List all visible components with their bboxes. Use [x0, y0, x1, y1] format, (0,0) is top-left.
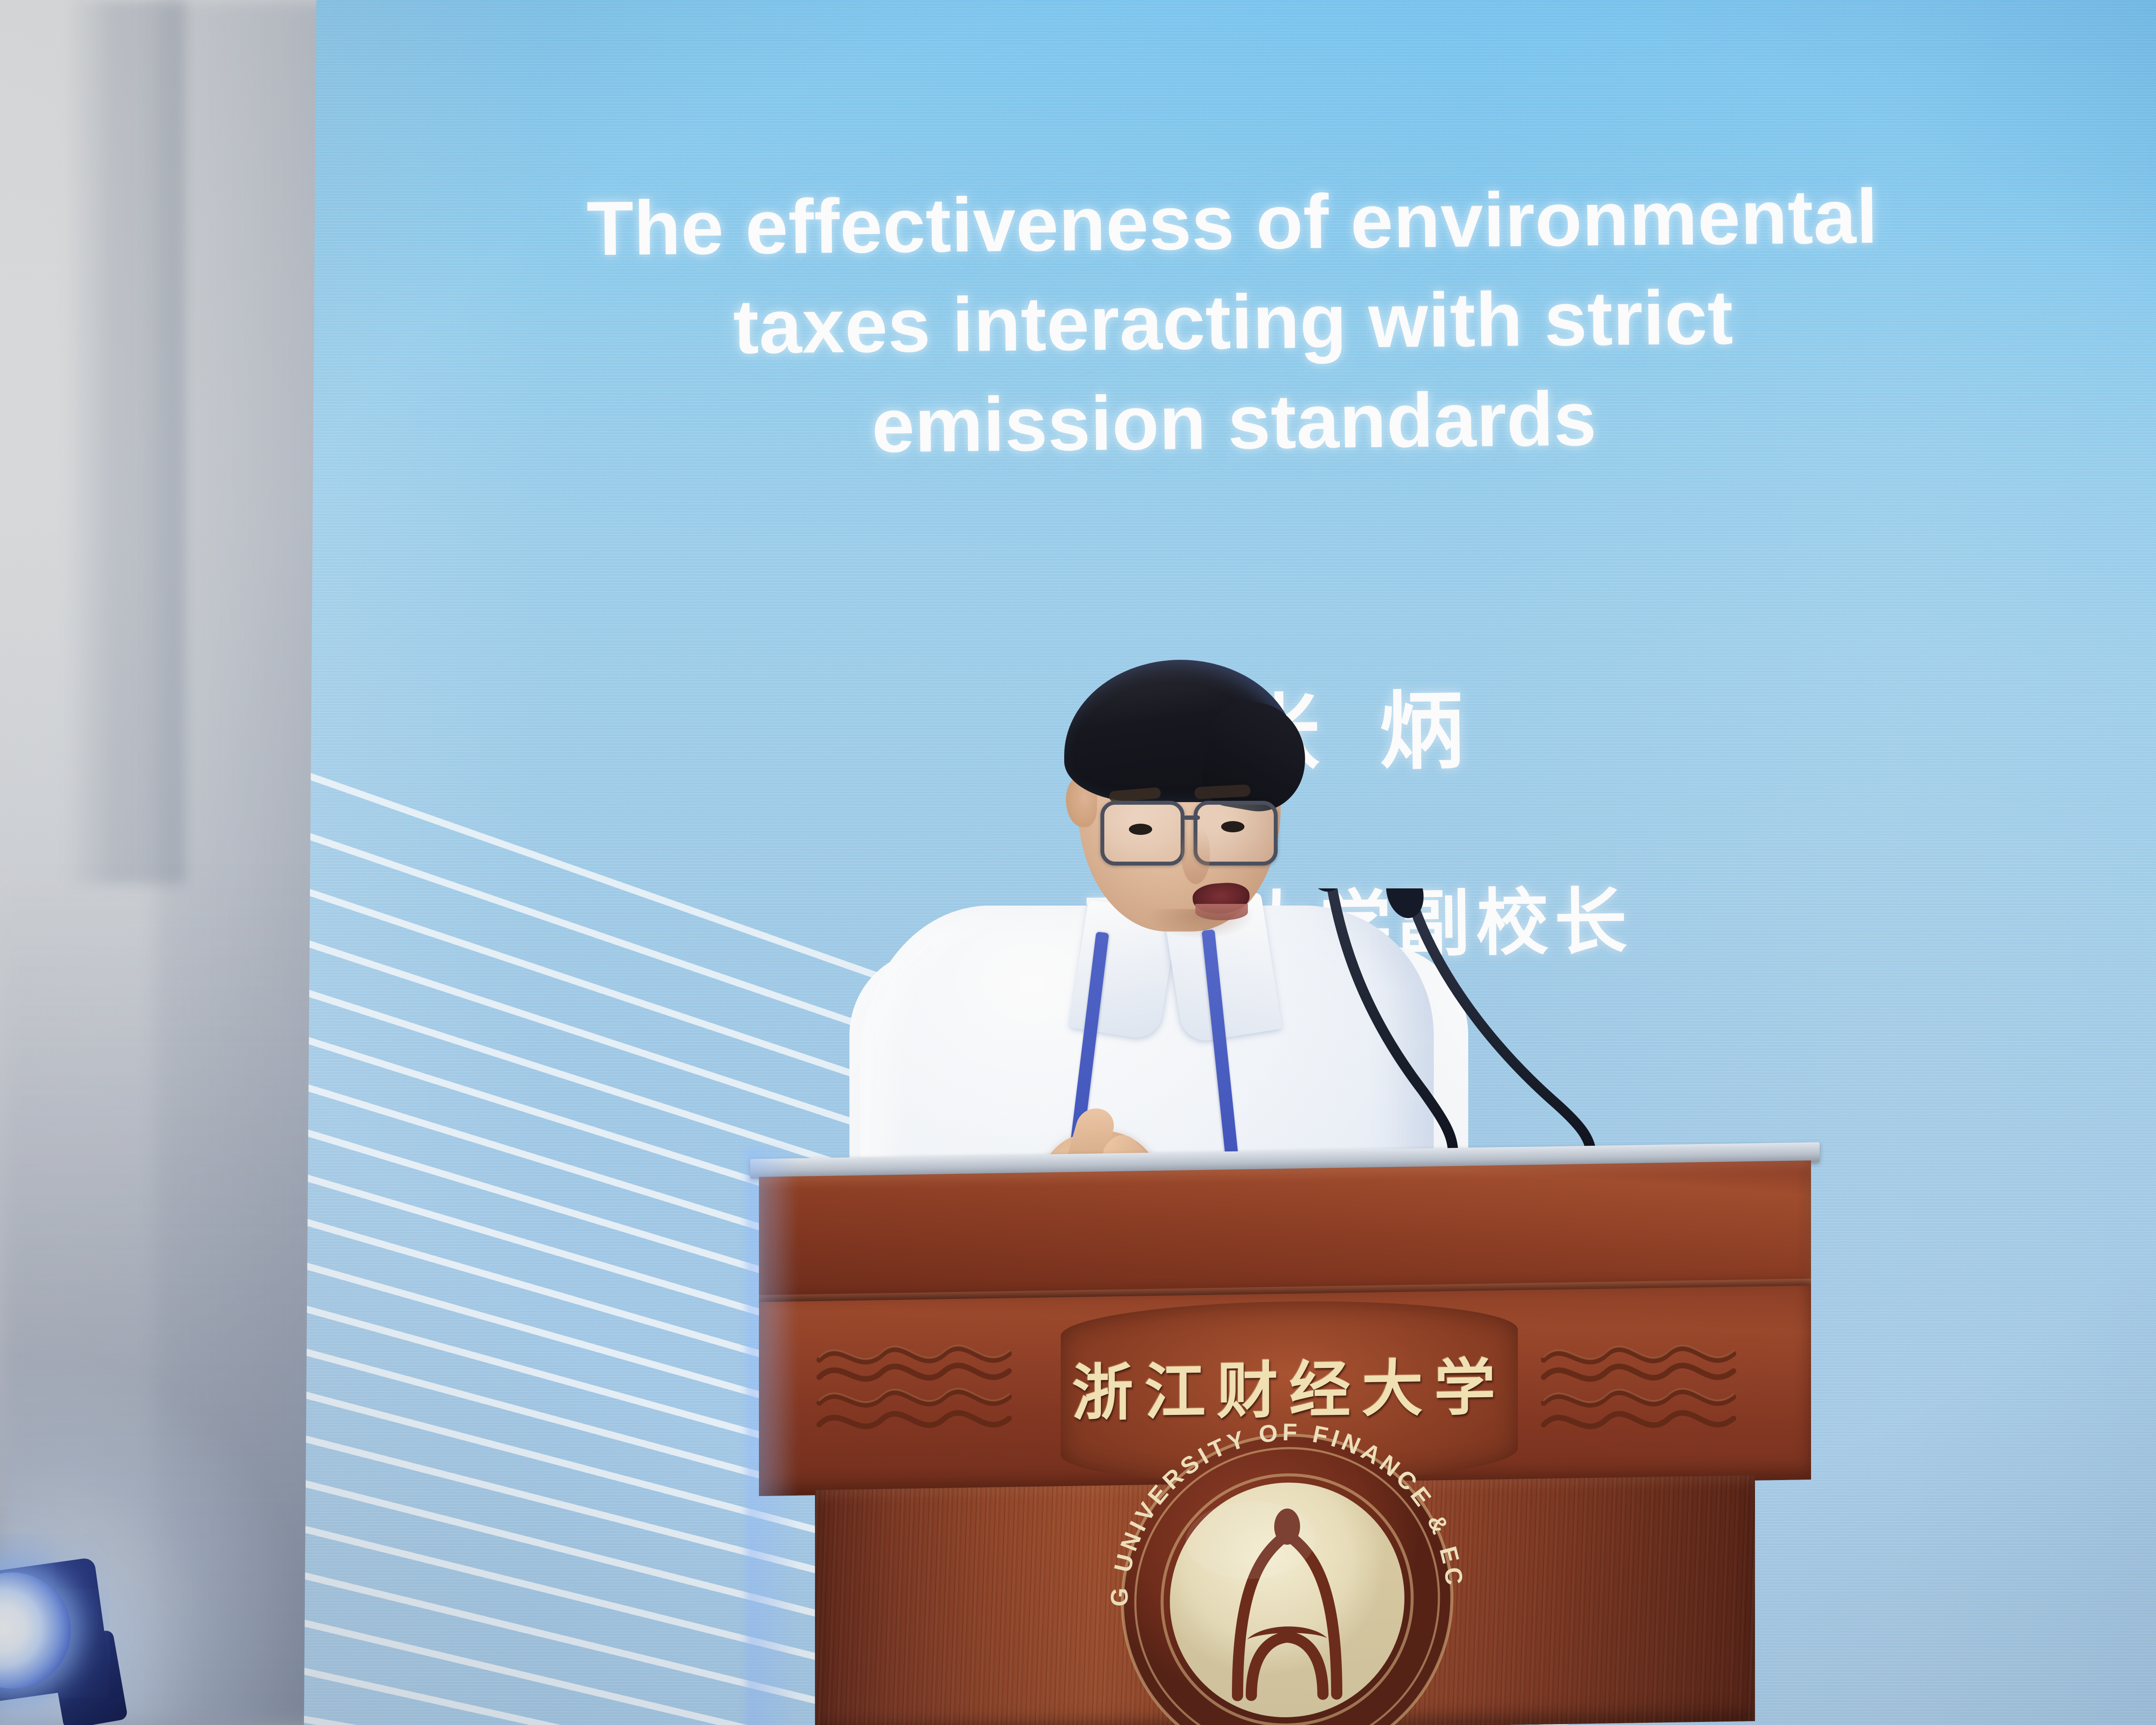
lectern-podium: 浙江财经大学 — [763, 1164, 1807, 1725]
speaker-hair — [1064, 660, 1297, 802]
podium-edge-highlight — [746, 1147, 798, 1725]
spotlight-icon — [0, 1535, 155, 1725]
podium-ornament-right — [1535, 1322, 1759, 1455]
speaker-chin-shadow — [1147, 909, 1255, 939]
podium-ornament-left — [811, 1322, 1035, 1455]
slide-title: The effectiveness of environmental taxes… — [326, 164, 2140, 480]
eyeglass-bridge — [1184, 815, 1200, 820]
speaker-eye-left — [1129, 824, 1152, 835]
left-wall — [0, 0, 328, 1725]
slide-title-line-2: taxes interacting with strict — [327, 263, 2139, 381]
slide-title-line-3: emission standards — [328, 364, 2140, 481]
podium-upper-band — [759, 1160, 1811, 1306]
speaker-nose — [1181, 828, 1210, 884]
slide-title-line-1: The effectiveness of environmental — [326, 164, 2138, 281]
conference-stage-photo: The effectiveness of environmental taxes… — [0, 0, 2156, 1725]
university-seal-icon: ZHEJIANG UNIVERSITY OF FINANCE & ECONOMI… — [1065, 1394, 1509, 1725]
speaker-eye-right — [1221, 821, 1244, 832]
